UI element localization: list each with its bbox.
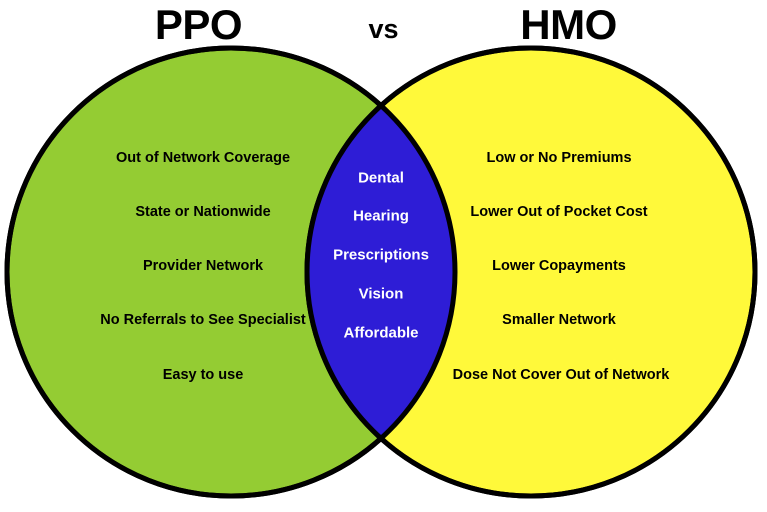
- hmo-item-1: Low or No Premiums: [486, 151, 631, 166]
- shared-item-2: Hearing: [353, 209, 409, 224]
- venn-text-layer: Out of Network Coverage State or Nationw…: [0, 0, 767, 512]
- hmo-item-5: Dose Not Cover Out of Network: [453, 368, 670, 383]
- ppo-item-5: Easy to use: [163, 368, 244, 383]
- hmo-item-3: Lower Copayments: [492, 259, 626, 274]
- hmo-item-4: Smaller Network: [502, 313, 616, 328]
- hmo-item-2: Lower Out of Pocket Cost: [470, 205, 647, 220]
- shared-item-5: Affordable: [344, 326, 419, 341]
- ppo-item-1: Out of Network Coverage: [116, 151, 290, 166]
- venn-diagram-page: PPO vs HMO Out of Network Coverage State…: [0, 0, 767, 512]
- shared-item-1: Dental: [358, 171, 404, 186]
- ppo-item-3: Provider Network: [143, 259, 263, 274]
- ppo-item-4: No Referrals to See Specialist: [100, 313, 306, 328]
- ppo-item-2: State or Nationwide: [135, 205, 270, 220]
- shared-item-4: Vision: [359, 287, 404, 302]
- shared-item-3: Prescriptions: [333, 248, 429, 263]
